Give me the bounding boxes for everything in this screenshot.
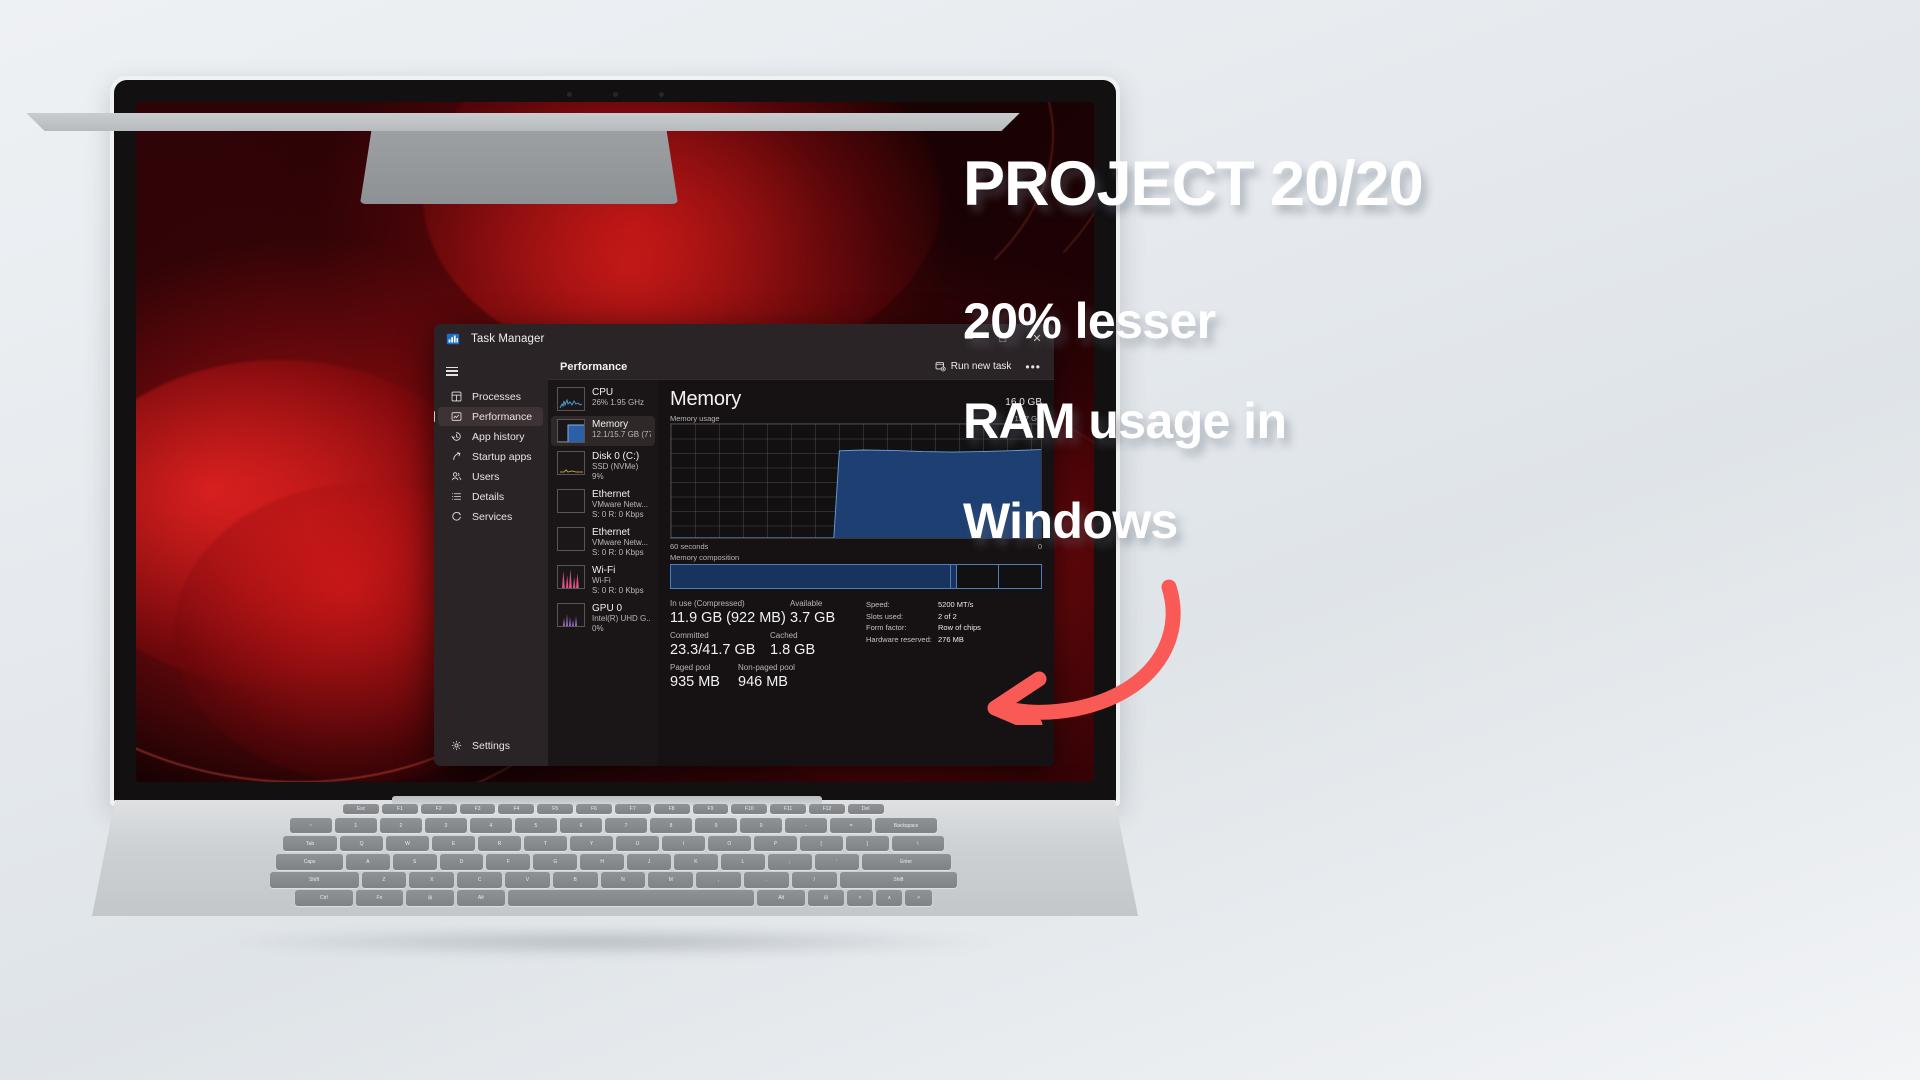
- composition-label: Memory composition: [670, 553, 739, 562]
- key-0[interactable]: 0: [740, 818, 782, 833]
- resource-text: Wi-Fi Wi-Fi S: 0 R: 0 Kbps: [592, 565, 644, 595]
- key-f12[interactable]: F12: [809, 804, 845, 814]
- detail-header: Memory 16.0 GB: [670, 388, 1042, 411]
- stat-label: Cached: [770, 630, 815, 641]
- resource-text: Disk 0 (C:) SSD (NVMe) 9%: [592, 451, 639, 481]
- stat-cached: Cached 1.8 GB: [770, 630, 815, 659]
- keyboard-row: TabQWERTYUIOP[]\: [283, 836, 947, 851]
- keyboard-row: CapsASDFGHJKL;'Enter: [276, 854, 953, 870]
- sidebar-item-label: Services: [472, 511, 512, 523]
- sidebar: Processes Performance: [434, 354, 548, 766]
- sidebar-item-startup-apps[interactable]: Startup apps: [438, 447, 543, 466]
- axis-left-label: 60 seconds: [670, 542, 708, 551]
- sidebar-item-services[interactable]: Services: [438, 507, 543, 526]
- laptop-base-front: [14, 113, 1032, 131]
- resource-text: Ethernet VMware Netw... S: 0 R: 0 Kbps: [592, 527, 648, 557]
- key-alt[interactable]: Alt: [457, 890, 505, 906]
- key-f[interactable]: F: [486, 854, 530, 870]
- memory-mini-graph: [557, 419, 585, 443]
- statistics-left-column: In use (Compressed) 11.9 GB (922 MB) Ava…: [670, 598, 866, 691]
- spec-value: 5200 MT/s: [938, 599, 973, 611]
- key-9[interactable]: 9: [695, 818, 737, 833]
- close-button[interactable]: ✕: [1020, 324, 1054, 354]
- key-space[interactable]: ~: [290, 818, 332, 833]
- key-o[interactable]: O: [708, 836, 751, 851]
- resource-item-ethernet-1[interactable]: Ethernet VMware Netw... S: 0 R: 0 Kbps: [551, 486, 655, 522]
- resource-detail-2: S: 0 R: 0 Kbps: [592, 586, 644, 596]
- key-space[interactable]: [: [800, 836, 843, 851]
- key-6[interactable]: 6: [560, 818, 602, 833]
- keyboard-row: EscF1F2F3F4F5F6F7F8F9F10F11F12Del: [343, 804, 886, 814]
- key-k[interactable]: K: [674, 854, 718, 870]
- stat-value: 1.8 GB: [770, 641, 815, 659]
- key-5[interactable]: 5: [515, 818, 557, 833]
- resource-text: Ethernet VMware Netw... S: 0 R: 0 Kbps: [592, 489, 648, 519]
- stat-label: In use (Compressed): [670, 598, 790, 609]
- history-icon: [450, 431, 463, 442]
- sidebar-item-label: Processes: [472, 391, 521, 403]
- resource-detail-1: SSD (NVMe): [592, 462, 639, 472]
- key-fn[interactable]: Fn: [356, 890, 404, 906]
- window-title-bar: Task Manager ─ □ ✕: [434, 324, 1054, 354]
- key-f7[interactable]: F7: [615, 804, 651, 814]
- stat-nonpaged-pool: Non-paged pool 946 MB: [738, 662, 795, 691]
- resource-detail-2: 9%: [592, 472, 639, 482]
- sidebar-item-settings[interactable]: Settings: [438, 736, 543, 755]
- performance-panes: CPU 26% 1.95 GHz: [548, 380, 1054, 766]
- key-space[interactable]: /: [792, 872, 837, 888]
- stat-label: Non-paged pool: [738, 662, 795, 673]
- taskmanager-icon: [446, 332, 460, 346]
- hamburger-icon: [446, 367, 458, 376]
- key-backspace[interactable]: Backspace: [875, 818, 937, 833]
- key-w[interactable]: W: [386, 836, 429, 851]
- key-d[interactable]: D: [440, 854, 484, 870]
- stat-label: Committed: [670, 630, 770, 641]
- resource-detail-2: S: 0 R: 0 Kbps: [592, 510, 648, 520]
- stat-value: 935 MB: [670, 673, 738, 691]
- key-1[interactable]: 1: [335, 818, 377, 833]
- key-space[interactable]: .: [744, 872, 789, 888]
- laptop-screen: Task Manager ─ □ ✕: [136, 102, 1094, 782]
- key-2[interactable]: 2: [380, 818, 422, 833]
- toolbar: Performance Run new task: [548, 354, 1054, 380]
- spec-value: Row of chips: [938, 622, 981, 634]
- key-h[interactable]: H: [580, 854, 624, 870]
- stat-value: 3.7 GB: [790, 609, 835, 627]
- keyboard-row: ~1234567890-=Backspace: [290, 818, 940, 833]
- key-space[interactable]: [508, 890, 755, 906]
- resource-name: Memory: [592, 419, 651, 430]
- resource-item-wifi[interactable]: Wi-Fi Wi-Fi S: 0 R: 0 Kbps: [551, 562, 655, 598]
- spec-row-speed: Speed: 5200 MT/s: [866, 599, 981, 611]
- minimize-button[interactable]: ─: [952, 324, 986, 354]
- sidebar-item-label: Performance: [472, 411, 532, 423]
- key-3[interactable]: 3: [425, 818, 467, 833]
- key-f8[interactable]: F8: [654, 804, 690, 814]
- memory-statistics: In use (Compressed) 11.9 GB (922 MB) Ava…: [670, 598, 1042, 691]
- key-esc[interactable]: Esc: [343, 804, 379, 814]
- window-title: Task Manager: [471, 333, 544, 345]
- page-title: Performance: [560, 361, 928, 373]
- trackpad[interactable]: [360, 122, 678, 204]
- spec-row-slots: Slots used: 2 of 2: [866, 611, 981, 623]
- key-8[interactable]: 8: [650, 818, 692, 833]
- processes-icon: [450, 391, 463, 402]
- resource-detail-1: Intel(R) UHD G...: [592, 614, 651, 624]
- key-n[interactable]: N: [601, 872, 646, 888]
- key-u[interactable]: U: [616, 836, 659, 851]
- resource-detail-1: Wi-Fi: [592, 576, 644, 586]
- key-f6[interactable]: F6: [576, 804, 612, 814]
- task-manager-window[interactable]: Task Manager ─ □ ✕: [434, 324, 1054, 766]
- sidebar-item-users[interactable]: Users: [438, 467, 543, 486]
- key-tab[interactable]: Tab: [283, 836, 337, 851]
- main-content: Performance Run new task: [548, 354, 1054, 766]
- window-caption-buttons: ─ □ ✕: [952, 324, 1054, 354]
- disk-mini-graph: [557, 451, 585, 475]
- resource-name: Ethernet: [592, 527, 648, 538]
- key-shift[interactable]: Shift: [270, 872, 359, 888]
- key-r[interactable]: R: [478, 836, 521, 851]
- webcam-icon: [613, 92, 618, 97]
- key-x[interactable]: X: [409, 872, 454, 888]
- stat-label: Available: [790, 598, 835, 609]
- sidebar-item-label: Startup apps: [472, 451, 532, 463]
- memory-composition-bar: [670, 564, 1042, 589]
- composition-free: [999, 565, 1041, 588]
- resource-detail-1: VMware Netw...: [592, 538, 648, 548]
- startup-icon: [450, 451, 463, 462]
- key-space[interactable]: ⊟: [808, 890, 844, 906]
- resource-name: CPU: [592, 387, 644, 398]
- usage-label: Memory usage: [670, 414, 720, 423]
- key-f11[interactable]: F11: [770, 804, 806, 814]
- hamburger-button[interactable]: [434, 356, 548, 386]
- axis-right-label: 0: [1038, 542, 1042, 551]
- wifi-mini-graph: [557, 565, 585, 589]
- keyboard-row: ShiftZXCVBNM,./Shift: [270, 872, 960, 888]
- resource-detail-1: 26% 1.95 GHz: [592, 398, 644, 408]
- resource-name: Disk 0 (C:): [592, 451, 639, 462]
- sidebar-item-details[interactable]: Details: [438, 487, 543, 506]
- key-q[interactable]: Q: [340, 836, 383, 851]
- stat-committed: Committed 23.3/41.7 GB: [670, 630, 770, 659]
- resource-detail-2: S: 0 R: 0 Kbps: [592, 548, 648, 558]
- resource-detail-1: VMware Netw...: [592, 500, 648, 510]
- more-options-button[interactable]: •••: [1018, 358, 1048, 376]
- key-enter[interactable]: Enter: [862, 854, 951, 870]
- spec-value: 276 MB: [938, 634, 964, 646]
- sidebar-item-app-history[interactable]: App history: [438, 427, 543, 446]
- resource-text: CPU 26% 1.95 GHz: [592, 387, 644, 411]
- stat-value: 11.9 GB (922 MB): [670, 609, 790, 627]
- laptop-base: EscF1F2F3F4F5F6F7F8F9F10F11F12Del~123456…: [92, 800, 1138, 930]
- sidebar-item-processes[interactable]: Processes: [438, 387, 543, 406]
- graph-time-axis: 60 seconds 0: [670, 542, 1042, 551]
- resource-list: CPU 26% 1.95 GHz: [548, 380, 658, 766]
- spec-key: Form factor:: [866, 622, 938, 634]
- resource-text: GPU 0 Intel(R) UHD G... 0%: [592, 603, 651, 633]
- stat-row-inuse: In use (Compressed) 11.9 GB (922 MB) Ava…: [670, 598, 866, 627]
- stat-row-pools: Paged pool 935 MB Non-paged pool 946 MB: [670, 662, 866, 691]
- performance-icon: [450, 411, 463, 422]
- memory-usage-area: [671, 424, 1041, 538]
- key-space[interactable]: ': [815, 854, 859, 870]
- memory-usage-graph: [670, 423, 1042, 539]
- stat-available: Available 3.7 GB: [790, 598, 835, 627]
- stat-value: 23.3/41.7 GB: [670, 641, 770, 659]
- composition-in-use: [671, 565, 950, 588]
- spec-value: 2 of 2: [938, 611, 957, 623]
- sidebar-item-label: Details: [472, 491, 504, 503]
- gpu-mini-graph: [557, 603, 585, 627]
- ethernet-mini-graph-1: [557, 489, 585, 513]
- spec-row-hardware-reserved: Hardware reserved: 276 MB: [866, 634, 981, 646]
- stat-value: 946 MB: [738, 673, 795, 691]
- run-new-task-button[interactable]: Run new task: [928, 358, 1019, 375]
- window-body: Processes Performance: [434, 354, 1054, 766]
- detail-title: Memory: [670, 388, 741, 411]
- laptop-mockup: Task Manager ─ □ ✕: [0, 0, 1160, 1080]
- key-shift[interactable]: Shift: [840, 872, 958, 888]
- run-task-icon: [935, 361, 946, 372]
- usage-max-label: 15.7 GB: [1014, 414, 1042, 423]
- key-p[interactable]: P: [754, 836, 797, 851]
- sidebar-item-label: Settings: [472, 740, 510, 752]
- key-space[interactable]: ∧: [876, 890, 902, 906]
- key-z[interactable]: Z: [362, 872, 407, 888]
- key-v[interactable]: V: [505, 872, 550, 888]
- cpu-mini-graph: [557, 387, 585, 411]
- gear-icon: [450, 740, 463, 751]
- key-4[interactable]: 4: [470, 818, 512, 833]
- resource-name: Ethernet: [592, 489, 648, 500]
- key-space[interactable]: ]: [846, 836, 889, 851]
- spec-key: Hardware reserved:: [866, 634, 938, 646]
- sensor-left-icon: [567, 92, 572, 97]
- key-f9[interactable]: F9: [693, 804, 729, 814]
- key-alt[interactable]: Alt: [757, 890, 805, 906]
- resource-item-ethernet-2[interactable]: Ethernet VMware Netw... S: 0 R: 0 Kbps: [551, 524, 655, 560]
- key-ctrl[interactable]: Ctrl: [295, 890, 352, 906]
- key-f10[interactable]: F10: [731, 804, 767, 814]
- sidebar-item-label: App history: [472, 431, 525, 443]
- memory-detail-pane: Memory 16.0 GB Memory usage 15.7 GB: [658, 380, 1054, 766]
- resource-item-memory[interactable]: Memory 12.1/15.7 GB (77%): [551, 416, 655, 446]
- key-g[interactable]: G: [533, 854, 577, 870]
- key-space[interactable]: ,: [696, 872, 741, 888]
- key-7[interactable]: 7: [605, 818, 647, 833]
- key-space[interactable]: -: [785, 818, 827, 833]
- composition-standby: [957, 565, 998, 588]
- resource-item-cpu[interactable]: CPU 26% 1.95 GHz: [551, 384, 655, 414]
- resource-name: GPU 0: [592, 603, 651, 614]
- spec-key: Speed:: [866, 599, 938, 611]
- resource-name: Wi-Fi: [592, 565, 644, 576]
- key-y[interactable]: Y: [570, 836, 613, 851]
- key-caps[interactable]: Caps: [276, 854, 342, 870]
- stat-label: Paged pool: [670, 662, 738, 673]
- details-icon: [450, 491, 463, 502]
- key-a[interactable]: A: [346, 854, 390, 870]
- resource-text: Memory 12.1/15.7 GB (77%): [592, 419, 651, 443]
- keyboard-row: CtrlFn⊞AltAlt⊟<∧>: [295, 890, 935, 906]
- maximize-button[interactable]: □: [986, 324, 1020, 354]
- key-space[interactable]: <: [847, 890, 873, 906]
- key-space[interactable]: \: [892, 836, 944, 851]
- key-l[interactable]: L: [721, 854, 765, 870]
- sensor-right-icon: [659, 92, 664, 97]
- key-c[interactable]: C: [457, 872, 502, 888]
- key-j[interactable]: J: [627, 854, 671, 870]
- key-space[interactable]: >: [905, 890, 931, 906]
- stat-paged-pool: Paged pool 935 MB: [670, 662, 738, 691]
- resource-detail-1: 12.1/15.7 GB (77%): [592, 430, 651, 440]
- key-space[interactable]: =: [830, 818, 872, 833]
- key-f3[interactable]: F3: [460, 804, 496, 814]
- users-icon: [450, 471, 463, 482]
- services-icon: [450, 511, 463, 522]
- stat-row-committed: Committed 23.3/41.7 GB Cached 1.8 GB: [670, 630, 866, 659]
- key-e[interactable]: E: [432, 836, 475, 851]
- composition-label-row: Memory composition: [670, 553, 1042, 562]
- spec-key: Slots used:: [866, 611, 938, 623]
- key-t[interactable]: T: [524, 836, 567, 851]
- key-space[interactable]: ;: [768, 854, 812, 870]
- key-m[interactable]: M: [648, 872, 693, 888]
- usage-axis-labels: Memory usage 15.7 GB: [670, 414, 1042, 423]
- spec-row-form-factor: Form factor: Row of chips: [866, 622, 981, 634]
- key-f2[interactable]: F2: [421, 804, 457, 814]
- memory-specs: Speed: 5200 MT/s Slots used: 2 of 2: [866, 598, 981, 691]
- key-i[interactable]: I: [662, 836, 705, 851]
- stat-in-use: In use (Compressed) 11.9 GB (922 MB): [670, 598, 790, 627]
- key-s[interactable]: S: [393, 854, 437, 870]
- resource-detail-2: 0%: [592, 624, 651, 634]
- keyboard[interactable]: EscF1F2F3F4F5F6F7F8F9F10F11F12Del~123456…: [92, 800, 1138, 916]
- run-new-task-label: Run new task: [951, 361, 1012, 372]
- key-f4[interactable]: F4: [498, 804, 534, 814]
- key-b[interactable]: B: [553, 872, 598, 888]
- sidebar-item-performance[interactable]: Performance: [438, 407, 543, 426]
- sidebar-item-label: Users: [472, 471, 499, 483]
- key-del[interactable]: Del: [848, 804, 884, 814]
- key-f1[interactable]: F1: [382, 804, 418, 814]
- sidebar-settings-container: Settings: [434, 735, 548, 756]
- key-space[interactable]: ⊞: [406, 890, 454, 906]
- resource-item-disk[interactable]: Disk 0 (C:) SSD (NVMe) 9%: [551, 448, 655, 484]
- resource-item-gpu[interactable]: GPU 0 Intel(R) UHD G... 0%: [551, 600, 655, 636]
- ethernet-mini-graph-2: [557, 527, 585, 551]
- memory-capacity: 16.0 GB: [1005, 397, 1042, 408]
- key-f5[interactable]: F5: [537, 804, 573, 814]
